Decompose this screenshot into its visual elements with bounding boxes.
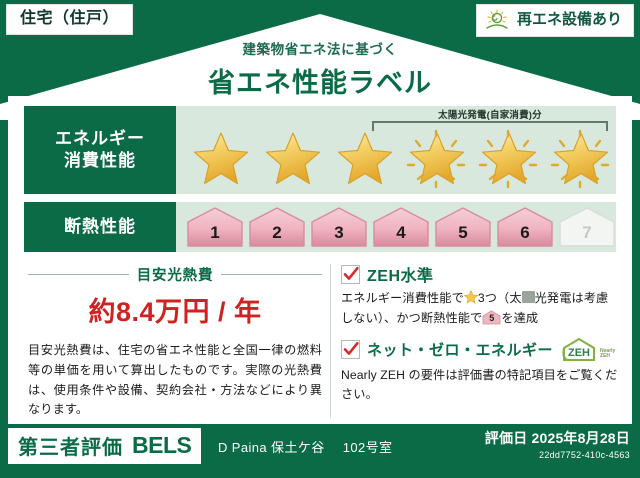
criteria-column: ZEH水準 エネルギー消費性能で3つ（太光発電は考慮しない）、かつ断熱性能で5を… [339,262,618,420]
utility-cost-note: 目安光熱費は、住宅の省エネ性能と全国一律の燃料等の単価を用いて算出したものです。… [28,341,322,420]
zeh-level-checkbox[interactable] [341,265,360,284]
pv-sparkle-icon [474,127,542,191]
insulation-level-1: 1 [186,206,244,248]
insulation-performance-label-box: 断熱性能 [24,202,176,252]
pv-note-label: 太陽光発電(自家消費)分 [372,107,608,121]
cost-rule-right [221,274,322,275]
mini-house-level-icon: 5 [482,310,501,325]
utility-cost-value: 約8.4万円 / 年 [28,290,322,329]
check-icon [343,266,359,282]
energy-performance-stars-area: 太陽光発電(自家消費)分 [176,106,616,194]
insulation-level-scale: 1234567 [186,202,610,252]
insulation-level-5: 5 [434,206,492,248]
insulation-level-7: 7 [558,206,616,248]
bels-badge: 第三者評価 BELS [8,428,201,464]
evaluation-info: 評価日 2025年8月28日 22dd7752-410c-4563 [485,428,630,460]
energy-label-line2: 消費性能 [64,150,136,172]
property-room: 102号室 [343,440,393,455]
insulation-level-6: 6 [496,206,554,248]
mini-star-icon [464,290,478,304]
pv-sparkle-icon [402,127,470,191]
net-zero-title: ネット・ゼロ・エネルギー [367,339,553,360]
zeh-desc-part1: エネルギー消費性能で [341,291,464,305]
zeh-sub-line2: ZEH [600,353,610,359]
cost-heading-text: 目安光熱費 [137,264,214,285]
insulation-level-2: 2 [248,206,306,248]
insulation-level-value: 1 [210,223,219,248]
mini-house-level-value: 5 [482,311,501,326]
zeh-logo-subtext: Nearly ZEH [600,349,615,363]
bels-en-label: BELS [132,432,191,459]
utility-cost-column: 目安光熱費 約8.4万円 / 年 目安光熱費は、住宅の省エネ性能と全国一律の燃料… [22,262,328,420]
building-type-badge: 住宅（住戸） [6,4,133,35]
lower-section: 目安光熱費 約8.4万円 / 年 目安光熱費は、住宅の省エネ性能と全国一律の燃料… [22,262,618,420]
star-rating [186,126,610,191]
redacted-character [522,291,535,303]
star-1 [186,127,254,191]
label-footer: 第三者評価 BELS D Paina 保土ケ谷 102号室 評価日 2025年8… [0,424,640,478]
zeh-desc-stars: 3つ（太 [478,291,522,305]
column-divider [330,264,331,418]
star-6 [546,127,614,191]
star-shape [192,131,250,187]
criterion-net-zero-head: ネット・ゼロ・エネルギー ZEH Nearly ZEH [341,337,618,363]
star-3 [330,127,398,191]
bels-jp-label: 第三者評価 [18,431,123,460]
insulation-level-value: 3 [334,223,343,248]
insulation-level-value: 2 [272,223,281,248]
energy-performance-label-box: エネルギー 消費性能 [24,106,176,194]
cost-rule-left [28,274,129,275]
zeh-logo: ZEH Nearly ZEH [560,337,615,363]
label-header: 建築物省エネ法に基づく 省エネ性能ラベル [0,38,640,100]
insulation-level-value: 5 [458,223,467,248]
criterion-zeh-level: ZEH水準 エネルギー消費性能で3つ（太光発電は考慮しない）、かつ断熱性能で5を… [341,262,618,329]
criterion-net-zero-energy: ネット・ゼロ・エネルギー ZEH Nearly ZEH [341,337,618,406]
insulation-level-value: 7 [582,223,591,248]
zeh-level-title: ZEH水準 [367,262,434,286]
energy-performance-row: エネルギー 消費性能 太陽光発電(自家消費)分 [24,106,616,194]
insulation-level-value: 4 [396,223,405,248]
evaluation-id: 22dd7752-410c-4563 [485,450,630,460]
insulation-level-value: 6 [520,223,529,248]
label-subtitle: 建築物省エネ法に基づく [0,38,640,58]
evaluation-date: 評価日 2025年8月28日 [485,428,630,448]
utility-cost-heading: 目安光熱費 [28,264,322,285]
zeh-level-description: エネルギー消費性能で3つ（太光発電は考慮しない）、かつ断熱性能で5を達成 [341,289,618,329]
insulation-level-3: 3 [310,206,368,248]
criterion-zeh-level-head: ZEH水準 [341,262,618,286]
svg-text:ZEH: ZEH [568,347,590,359]
label-body-card: エネルギー 消費性能 太陽光発電(自家消費)分 断熱性能 1234567 [8,96,632,424]
renewable-energy-badge-label: 再エネ設備あり [517,12,622,29]
star-shape [264,131,322,187]
property-info: D Paina 保土ケ谷 102号室 [218,437,392,456]
star-5 [474,127,542,191]
net-zero-description: Nearly ZEH の要件は評価書の特記項目をご覧ください。 [341,366,618,406]
star-shape [336,131,394,187]
insulation-label-text: 断熱性能 [64,216,136,238]
renewable-energy-badge: 再エネ設備あり [476,4,634,37]
star-4 [402,127,470,191]
energy-performance-label: 住宅（住戸） 再エネ設備あり 建築物省エネ法に基づく 省エネ性能ラベル [0,0,640,478]
insulation-performance-row: 断熱性能 1234567 [24,202,616,252]
zeh-house-icon: ZEH [560,337,598,363]
energy-label-line1: エネルギー [55,128,145,150]
sun-icon [485,9,511,31]
net-zero-checkbox[interactable] [341,340,360,359]
insulation-levels-area: 1234567 [176,202,616,252]
property-name: D Paina 保土ケ谷 [218,440,325,455]
star-2 [258,127,326,191]
label-title: 省エネ性能ラベル [0,61,640,100]
check-icon [343,341,359,357]
insulation-level-4: 4 [372,206,430,248]
zeh-desc-part3: を達成 [501,311,538,325]
pv-sparkle-icon [546,127,614,191]
